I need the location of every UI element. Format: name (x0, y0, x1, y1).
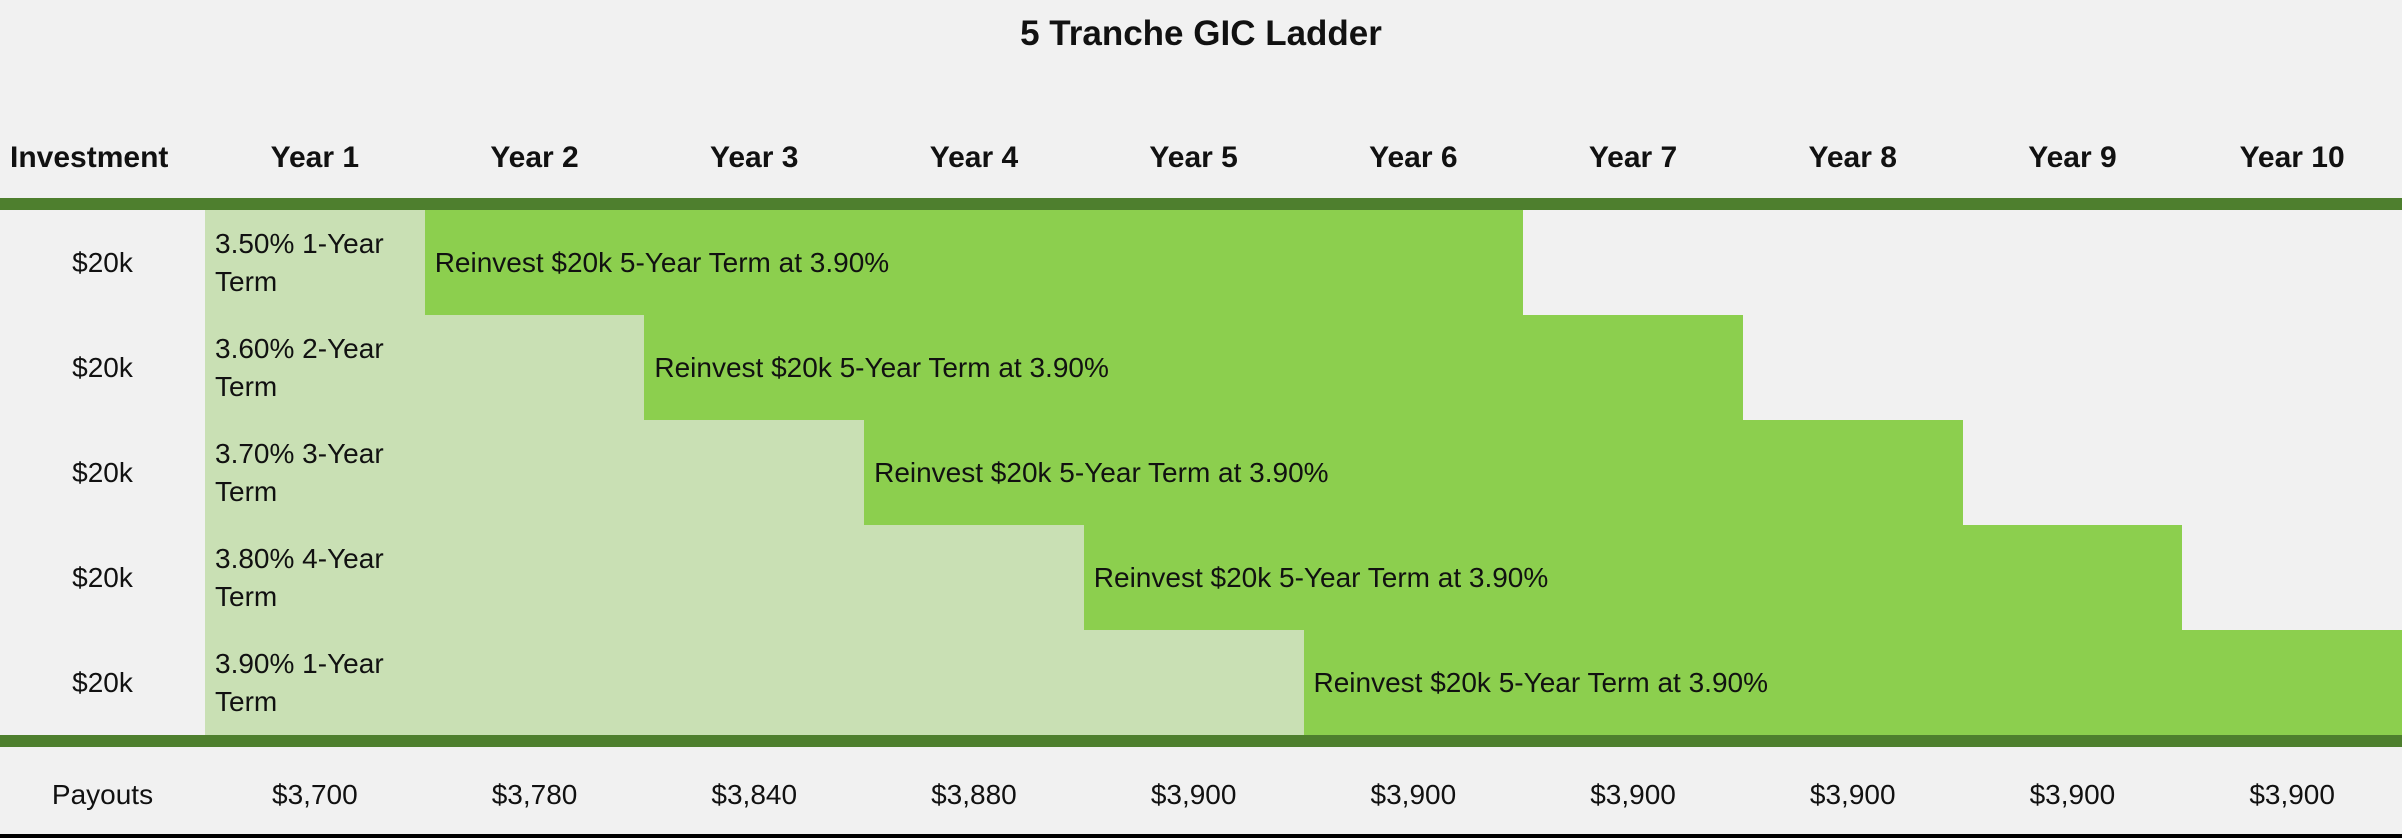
header-year-7: Year 7 (1523, 122, 1743, 194)
payout-year-10: $3,900 (2182, 755, 2402, 835)
payout-year-6: $3,900 (1304, 755, 1524, 835)
tranche-row[interactable]: $20k3.70% 3-Year TermReinvest $20k 5-Yea… (0, 420, 2402, 525)
header-year-1: Year 1 (205, 122, 425, 194)
initial-term-label: 3.80% 4-Year Term (205, 540, 421, 616)
reinvest-label: Reinvest $20k 5-Year Term at 3.90% (425, 244, 895, 282)
payout-year-9: $3,900 (1963, 755, 2183, 835)
tranche-row[interactable]: $20k3.50% 1-Year TermReinvest $20k 5-Yea… (0, 210, 2402, 315)
column-header-row: InvestmentYear 1Year 2Year 3Year 4Year 5… (0, 122, 2402, 194)
reinvest-bar[interactable]: Reinvest $20k 5-Year Term at 3.90% (864, 420, 1963, 525)
payouts-label: Payouts (0, 755, 205, 835)
investment-amount: $20k (0, 525, 205, 630)
initial-term-bar[interactable]: 3.80% 4-Year Term (205, 525, 1084, 630)
investment-amount: $20k (0, 210, 205, 315)
initial-term-bar[interactable]: 3.60% 2-Year Term (205, 315, 644, 420)
header-investment: Investment (0, 122, 205, 194)
reinvest-bar[interactable]: Reinvest $20k 5-Year Term at 3.90% (425, 210, 1524, 315)
initial-term-label: 3.70% 3-Year Term (205, 435, 421, 511)
header-year-8: Year 8 (1743, 122, 1963, 194)
investment-amount: $20k (0, 630, 205, 735)
reinvest-label: Reinvest $20k 5-Year Term at 3.90% (864, 454, 1334, 492)
header-year-6: Year 6 (1304, 122, 1524, 194)
reinvest-label: Reinvest $20k 5-Year Term at 3.90% (1304, 664, 1774, 702)
initial-term-bar[interactable]: 3.90% 1-Year Term (205, 630, 1304, 735)
initial-term-label: 3.50% 1-Year Term (205, 225, 421, 301)
ladder-grid: $20k3.50% 1-Year TermReinvest $20k 5-Yea… (0, 198, 2402, 743)
reinvest-label: Reinvest $20k 5-Year Term at 3.90% (644, 349, 1114, 387)
reinvest-bar[interactable]: Reinvest $20k 5-Year Term at 3.90% (644, 315, 1743, 420)
payouts-row: Payouts$3,700$3,780$3,840$3,880$3,900$3,… (0, 755, 2402, 835)
tranche-row[interactable]: $20k3.60% 2-Year TermReinvest $20k 5-Yea… (0, 315, 2402, 420)
initial-term-label: 3.60% 2-Year Term (205, 330, 421, 406)
payout-year-1: $3,700 (205, 755, 425, 835)
investment-amount: $20k (0, 420, 205, 525)
header-year-9: Year 9 (1963, 122, 2183, 194)
tranche-row[interactable]: $20k3.90% 1-Year TermReinvest $20k 5-Yea… (0, 630, 2402, 735)
initial-term-bar[interactable]: 3.70% 3-Year Term (205, 420, 864, 525)
page-title: 5 Tranche GIC Ladder (0, 14, 2402, 54)
tranche-row[interactable]: $20k3.80% 4-Year TermReinvest $20k 5-Yea… (0, 525, 2402, 630)
payout-year-2: $3,780 (425, 755, 645, 835)
header-year-3: Year 3 (644, 122, 864, 194)
payout-year-5: $3,900 (1084, 755, 1304, 835)
payout-year-4: $3,880 (864, 755, 1084, 835)
bottom-rule-green (0, 735, 2402, 747)
reinvest-label: Reinvest $20k 5-Year Term at 3.90% (1084, 559, 1554, 597)
reinvest-bar[interactable]: Reinvest $20k 5-Year Term at 3.90% (1304, 630, 2402, 735)
top-rule (0, 198, 2402, 210)
header-year-10: Year 10 (2182, 122, 2402, 194)
payout-year-7: $3,900 (1523, 755, 1743, 835)
header-year-4: Year 4 (864, 122, 1084, 194)
payout-year-8: $3,900 (1743, 755, 1963, 835)
initial-term-label: 3.90% 1-Year Term (205, 645, 421, 721)
gic-ladder-chart: 5 Tranche GIC Ladder InvestmentYear 1Yea… (0, 0, 2402, 838)
bottom-border (0, 834, 2402, 838)
reinvest-bar[interactable]: Reinvest $20k 5-Year Term at 3.90% (1084, 525, 2183, 630)
header-year-2: Year 2 (425, 122, 645, 194)
initial-term-bar[interactable]: 3.50% 1-Year Term (205, 210, 425, 315)
investment-amount: $20k (0, 315, 205, 420)
payout-year-3: $3,840 (644, 755, 864, 835)
header-year-5: Year 5 (1084, 122, 1304, 194)
